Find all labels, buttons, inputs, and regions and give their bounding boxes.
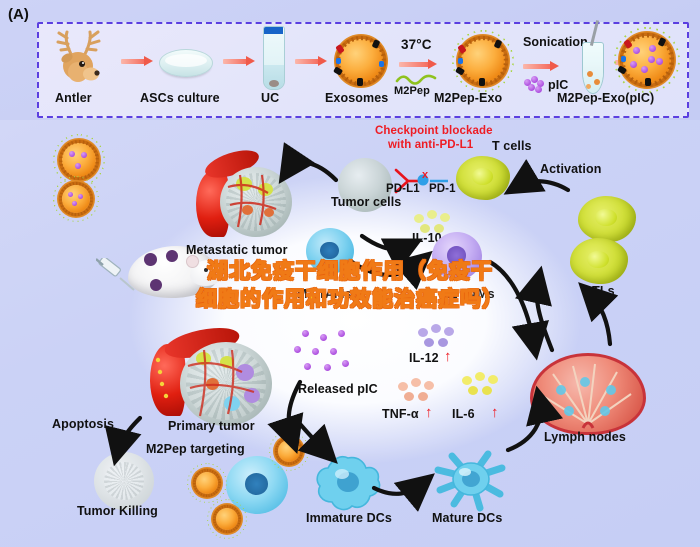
lymph-nodes-icon xyxy=(530,353,646,435)
panel-a-step-label-m2pep-exo-pic: M2Pep-Exo(pIC) xyxy=(557,92,654,105)
tnf-alpha-label: TNF-α xyxy=(382,408,419,421)
t-cells-label: T cells xyxy=(492,140,532,153)
apoptotic-cell-icon xyxy=(94,452,154,510)
t-cell-icon-1 xyxy=(456,156,510,200)
process-arrow-3 xyxy=(295,57,327,66)
pic-cluster-icon xyxy=(524,76,544,90)
panel-a-step-label-m2pep-exo: M2Pep-Exo xyxy=(434,92,502,105)
targeting-exosome-icon-2 xyxy=(196,472,218,494)
pd-l1-label: PD-L1 xyxy=(386,184,420,196)
panel-a-tag: (A) xyxy=(8,6,29,23)
checkpoint-blockade-label-line2: with anti-PD-L1 xyxy=(388,140,473,152)
loaded-exosome-icon xyxy=(623,36,671,84)
il-6-up-arrow: ↑ xyxy=(491,405,499,420)
watermark-line-2: 细胞的作用和功效能治癌症吗） xyxy=(0,286,700,314)
primary-tumor-label: Primary tumor xyxy=(168,420,255,433)
m2pep-targeting-label: M2Pep targeting xyxy=(146,443,245,456)
panel-a-step-label-uc: UC xyxy=(261,92,279,105)
free-exosome-icon-1 xyxy=(62,143,96,177)
il-6-label: IL-6 xyxy=(452,408,475,421)
activation-label: Activation xyxy=(540,163,601,176)
centrifuge-tube-icon xyxy=(263,26,285,90)
lymph-nodes-label: Lymph nodes xyxy=(544,431,626,444)
immature-dcs-label: Immature DCs xyxy=(306,512,392,525)
tnf-alpha-cytokine-dots xyxy=(398,378,438,404)
tumor-killing-label: Tumor Killing xyxy=(77,505,158,518)
panel-a-step-label-ascs: ASCs culture xyxy=(140,92,220,105)
released-pic-label: Released pIC xyxy=(298,383,378,396)
released-pic-dots xyxy=(294,330,354,382)
ctl-cell-icon-1 xyxy=(578,196,636,242)
m2pep-squiggle-icon xyxy=(395,72,441,86)
il-12-up-arrow: ↑ xyxy=(444,349,452,364)
process-arrow-1 xyxy=(121,57,153,66)
panel-a-annotation-sonication: Sonication xyxy=(523,36,588,49)
targeting-exosome-icon-3 xyxy=(216,508,238,530)
petri-dish-icon xyxy=(159,49,213,77)
panel-a-annotation-temperature: 37°C xyxy=(401,38,432,52)
tnf-alpha-up-arrow: ↑ xyxy=(425,405,433,420)
watermark-text: 湖北免疫干细胞作用（免疫干 细胞的作用和功效能治癌症吗） xyxy=(0,258,700,313)
figure-canvas: (A) Antler ASCs xyxy=(0,0,700,547)
immature-dc-icon xyxy=(312,452,384,514)
process-arrow-4 xyxy=(399,60,437,69)
panel-a-stage: Antler ASCs culture UC Exosomes 37°C xyxy=(37,22,685,114)
watermark-line-1: 湖北免疫干细胞作用（免疫干 xyxy=(0,258,700,286)
exosome-icon xyxy=(339,39,383,83)
panel-a-step-label-exosomes: Exosomes xyxy=(325,92,388,105)
pd-1-label: PD-1 xyxy=(429,184,456,196)
process-arrow-5 xyxy=(523,62,559,71)
process-arrow-2 xyxy=(223,57,255,66)
blockade-cross-mark: x xyxy=(422,170,428,181)
il-12-cytokine-dots xyxy=(418,324,458,350)
il-6-cytokine-dots xyxy=(462,372,502,398)
checkpoint-blockade-label-line1: Checkpoint blockade xyxy=(375,126,493,138)
sonicator-tube-icon xyxy=(582,42,604,94)
panel-a-annotation-m2pep: M2Pep xyxy=(394,86,430,97)
panel-a-annotation-pic: pIC xyxy=(548,79,568,92)
peptide-exosome-icon xyxy=(461,39,505,83)
targeting-exosome-icon-1 xyxy=(278,440,300,462)
panel-a-step-label-antler: Antler xyxy=(55,92,92,105)
free-exosome-icon-2 xyxy=(62,185,90,213)
deer-icon xyxy=(49,28,115,84)
tumor-cells-label: Tumor cells xyxy=(331,196,401,209)
apoptosis-label: Apoptosis xyxy=(52,418,114,431)
metastatic-tumor-icon xyxy=(196,153,300,249)
il-12-label: IL-12 xyxy=(409,352,439,365)
metastatic-tumor-label: Metastatic tumor xyxy=(186,244,288,257)
mature-dc-icon xyxy=(432,446,510,516)
mature-dcs-label: Mature DCs xyxy=(432,512,502,525)
